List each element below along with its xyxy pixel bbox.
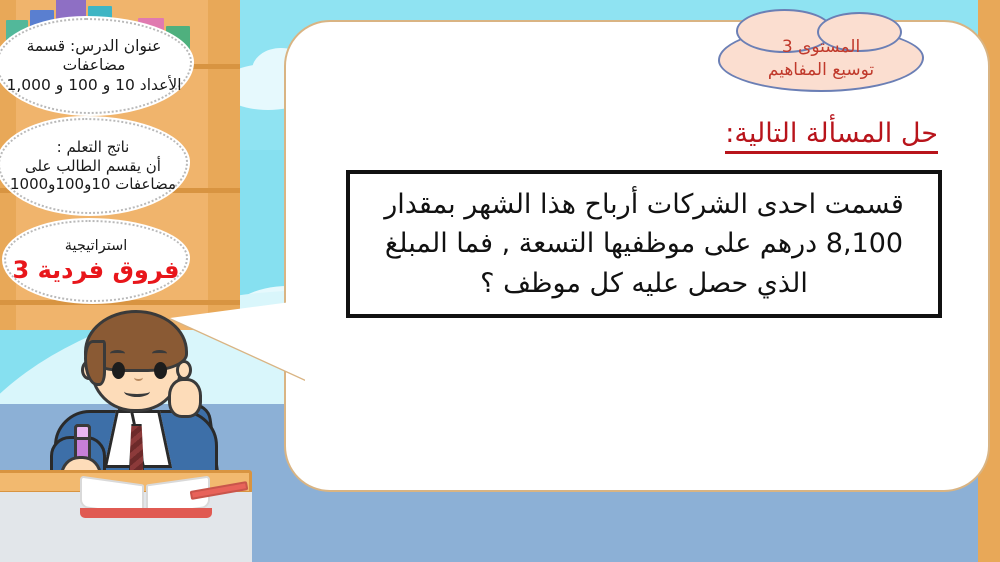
- lesson-title-line1: عنوان الدرس: قسمة مضاعفات: [0, 37, 190, 76]
- strategy-value: فروق فردية 3: [13, 255, 180, 285]
- shelf-panel-right: [208, 0, 240, 330]
- learning-outcome-line2: أن يقسم الطالب على: [25, 157, 161, 176]
- student-eye-left: [112, 362, 125, 379]
- strategy-label: استراتيجية: [65, 237, 128, 255]
- learning-outcome-label: ناتج التعلم :: [57, 138, 130, 157]
- student-brow-right: [152, 350, 167, 357]
- problem-line-3: الذي حصل عليه كل موظف ؟: [480, 264, 808, 303]
- level-badge-line2: توسيع المفاهيم: [768, 59, 874, 82]
- student-mouth: [124, 386, 150, 397]
- problem-statement-box: قسمت احدى الشركات أرباح هذا الشهر بمقدار…: [346, 170, 942, 318]
- student-nose: [134, 374, 143, 381]
- student-brow-left: [110, 350, 125, 357]
- marker-cap-icon: [74, 424, 91, 440]
- student-right-hand: [168, 378, 202, 418]
- problem-line-1: قسمت احدى الشركات أرباح هذا الشهر بمقدار: [384, 185, 904, 224]
- student-eye-right: [154, 362, 167, 379]
- level-badge: المستوى 3 توسيع المفاهيم: [718, 26, 924, 92]
- slide-canvas: عنوان الدرس: قسمة مضاعفات الأعداد 10 و 1…: [0, 0, 1000, 562]
- lesson-title-line2: الأعداد 10 و 100 و 1,000: [6, 76, 181, 95]
- open-book-cover: [80, 508, 212, 518]
- problem-line-2: 8,100 درهم على موظفيها التسعة , فما المب…: [385, 224, 903, 263]
- speech-bubble-tail: [170, 300, 306, 380]
- level-badge-line1: المستوى 3: [782, 36, 860, 59]
- page-title: حل المسألة التالية:: [725, 118, 938, 154]
- learning-outcome-line3: مضاعفات 10و100و1000: [10, 175, 176, 194]
